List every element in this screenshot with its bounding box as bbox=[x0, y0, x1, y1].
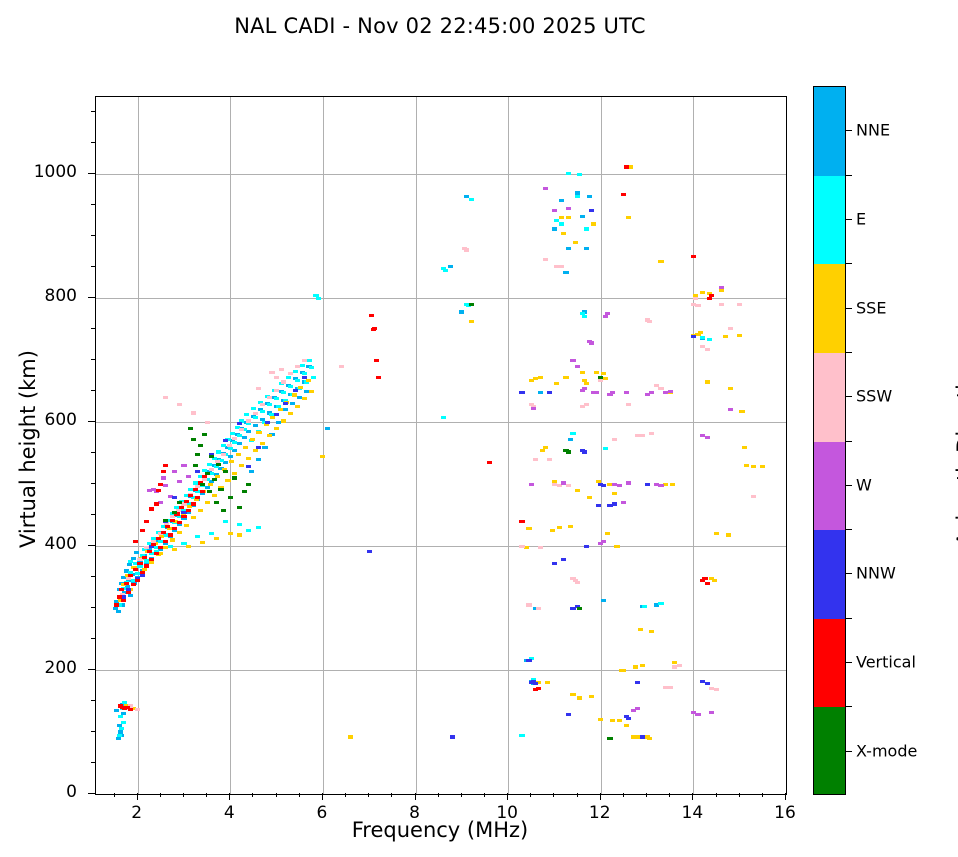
data-mark bbox=[128, 594, 133, 597]
data-mark bbox=[205, 486, 210, 489]
x-tick-label: 4 bbox=[199, 803, 259, 823]
data-mark bbox=[118, 715, 123, 718]
colorbar-band[interactable] bbox=[814, 442, 845, 531]
x-tick-minor bbox=[276, 793, 277, 797]
data-mark bbox=[526, 527, 531, 530]
x-tick-label: 2 bbox=[107, 803, 167, 823]
data-mark bbox=[714, 532, 719, 535]
y-tick-label: 600 bbox=[17, 410, 77, 430]
y-tick-major bbox=[88, 793, 95, 794]
data-mark bbox=[209, 532, 214, 535]
data-mark bbox=[309, 366, 314, 369]
data-mark bbox=[232, 449, 237, 452]
data-mark bbox=[253, 412, 258, 415]
data-mark bbox=[566, 713, 571, 716]
data-mark bbox=[232, 441, 237, 444]
data-mark bbox=[188, 427, 193, 430]
data-mark bbox=[626, 403, 631, 406]
data-mark bbox=[256, 431, 261, 434]
data-mark bbox=[207, 490, 212, 493]
data-mark bbox=[547, 391, 552, 394]
data-mark bbox=[283, 408, 288, 411]
data-mark bbox=[614, 545, 619, 548]
data-mark bbox=[601, 599, 606, 602]
y-tick-minor bbox=[91, 328, 95, 329]
data-mark bbox=[302, 397, 307, 400]
data-mark bbox=[566, 450, 571, 453]
data-mark bbox=[519, 545, 524, 548]
colorbar-band[interactable] bbox=[814, 353, 845, 442]
colorbar-band[interactable] bbox=[814, 264, 845, 353]
data-mark bbox=[566, 172, 571, 175]
data-mark bbox=[221, 444, 226, 447]
data-mark bbox=[281, 391, 286, 394]
data-mark bbox=[163, 540, 168, 543]
colorbar-band[interactable] bbox=[814, 87, 845, 176]
data-mark bbox=[700, 291, 705, 294]
data-mark bbox=[469, 320, 474, 323]
data-mark bbox=[172, 496, 177, 499]
data-mark bbox=[170, 538, 175, 541]
data-mark bbox=[218, 488, 223, 491]
colorbar-label: Vertical bbox=[856, 653, 916, 672]
gridline-horizontal bbox=[96, 422, 786, 423]
y-tick-minor bbox=[91, 483, 95, 484]
data-mark bbox=[723, 335, 728, 338]
data-mark bbox=[598, 376, 603, 379]
data-mark bbox=[236, 453, 241, 456]
colorbar-band[interactable] bbox=[814, 619, 845, 708]
data-mark bbox=[186, 509, 191, 512]
data-mark bbox=[126, 591, 131, 594]
x-tick-major bbox=[415, 793, 416, 800]
data-mark bbox=[698, 331, 703, 334]
data-mark bbox=[584, 403, 589, 406]
data-mark bbox=[249, 470, 254, 473]
data-mark bbox=[707, 297, 712, 300]
colorbar-title: Azimuth Direction bbox=[953, 102, 958, 802]
colorbar-tick bbox=[846, 396, 852, 397]
colorbar-label: SSE bbox=[856, 298, 886, 317]
data-mark bbox=[140, 574, 145, 577]
data-mark bbox=[573, 241, 578, 244]
data-mark bbox=[545, 681, 550, 684]
data-mark bbox=[121, 721, 126, 724]
data-mark bbox=[119, 588, 124, 591]
data-mark bbox=[232, 472, 237, 475]
data-mark bbox=[309, 390, 314, 393]
data-mark bbox=[163, 396, 168, 399]
y-tick-minor bbox=[91, 607, 95, 608]
colorbar-tick bbox=[846, 751, 852, 752]
colorbar-tick-boundary bbox=[846, 175, 852, 176]
data-mark bbox=[246, 419, 251, 422]
x-tick-minor bbox=[206, 793, 207, 797]
data-mark bbox=[459, 310, 464, 313]
data-mark bbox=[172, 511, 177, 514]
data-mark bbox=[202, 433, 207, 436]
x-tick-major bbox=[137, 793, 138, 800]
data-mark bbox=[165, 525, 170, 528]
data-mark bbox=[575, 365, 580, 368]
data-mark bbox=[526, 603, 531, 606]
data-mark bbox=[469, 198, 474, 201]
data-mark bbox=[246, 529, 251, 532]
data-mark bbox=[134, 551, 139, 554]
data-mark bbox=[221, 453, 226, 456]
data-mark bbox=[587, 496, 592, 499]
x-tick-minor bbox=[461, 793, 462, 797]
colorbar-tick bbox=[846, 485, 852, 486]
data-mark bbox=[209, 472, 214, 475]
data-mark bbox=[529, 483, 534, 486]
data-mark bbox=[228, 532, 233, 535]
y-tick-label: 800 bbox=[17, 286, 77, 306]
data-mark bbox=[737, 334, 742, 337]
data-mark bbox=[536, 687, 541, 690]
data-mark bbox=[117, 595, 122, 598]
y-tick-minor bbox=[91, 638, 95, 639]
x-tick-minor bbox=[623, 793, 624, 797]
data-mark bbox=[274, 397, 279, 400]
data-mark bbox=[719, 303, 724, 306]
data-mark bbox=[281, 419, 286, 422]
data-mark bbox=[642, 605, 647, 608]
x-tick-minor bbox=[345, 793, 346, 797]
data-mark bbox=[246, 457, 251, 460]
data-mark bbox=[626, 481, 631, 484]
y-tick-minor bbox=[91, 452, 95, 453]
data-mark bbox=[603, 377, 608, 380]
gridline-vertical bbox=[416, 97, 417, 794]
data-mark bbox=[712, 579, 717, 582]
data-mark bbox=[293, 389, 298, 392]
y-tick-label: 200 bbox=[17, 658, 77, 678]
x-tick-minor bbox=[299, 793, 300, 797]
data-mark bbox=[161, 470, 166, 473]
data-mark bbox=[621, 193, 626, 196]
data-mark bbox=[533, 458, 538, 461]
data-mark bbox=[274, 427, 279, 430]
data-mark bbox=[288, 372, 293, 375]
data-mark bbox=[149, 507, 154, 510]
data-mark bbox=[719, 286, 724, 289]
colorbar-tick-boundary bbox=[846, 263, 852, 264]
data-mark bbox=[214, 537, 219, 540]
data-mark bbox=[570, 693, 575, 696]
data-mark bbox=[557, 526, 562, 529]
data-mark bbox=[691, 335, 696, 338]
data-mark bbox=[256, 526, 261, 529]
colorbar-label: NNE bbox=[856, 121, 890, 140]
data-mark bbox=[563, 376, 568, 379]
data-mark bbox=[670, 483, 675, 486]
data-mark bbox=[580, 215, 585, 218]
data-mark bbox=[577, 173, 582, 176]
data-mark bbox=[369, 314, 374, 317]
data-mark bbox=[177, 531, 182, 534]
x-tick-label: 14 bbox=[662, 803, 722, 823]
data-mark bbox=[144, 564, 149, 567]
data-mark bbox=[568, 525, 573, 528]
data-mark bbox=[223, 520, 228, 523]
data-mark bbox=[538, 546, 543, 549]
data-mark bbox=[151, 543, 156, 546]
data-mark bbox=[181, 464, 186, 467]
data-mark bbox=[596, 504, 601, 507]
data-mark bbox=[533, 682, 538, 685]
data-mark bbox=[348, 735, 353, 738]
colorbar-band[interactable] bbox=[814, 707, 845, 795]
data-mark bbox=[298, 386, 303, 389]
x-tick-minor bbox=[739, 793, 740, 797]
data-mark bbox=[519, 734, 524, 737]
colorbar-label: NNW bbox=[856, 564, 896, 583]
colorbar-tick bbox=[846, 662, 852, 663]
data-mark bbox=[649, 391, 654, 394]
data-mark bbox=[601, 540, 606, 543]
data-mark bbox=[274, 389, 279, 392]
colorbar[interactable] bbox=[813, 86, 846, 795]
data-mark bbox=[450, 735, 455, 738]
data-mark bbox=[269, 371, 274, 374]
y-tick-minor bbox=[91, 142, 95, 143]
data-mark bbox=[547, 458, 552, 461]
data-mark bbox=[253, 416, 258, 419]
y-tick-major bbox=[88, 669, 95, 670]
y-tick-minor bbox=[91, 576, 95, 577]
data-mark bbox=[232, 437, 237, 440]
y-tick-label: 400 bbox=[17, 534, 77, 554]
data-mark bbox=[191, 502, 196, 505]
data-mark bbox=[709, 294, 714, 297]
data-mark bbox=[589, 209, 594, 212]
data-mark bbox=[137, 562, 142, 565]
data-mark bbox=[237, 442, 242, 445]
data-mark bbox=[552, 209, 557, 212]
data-mark bbox=[594, 371, 599, 374]
y-tick-major bbox=[88, 297, 95, 298]
data-mark bbox=[464, 248, 469, 251]
colorbar-tick bbox=[846, 308, 852, 309]
x-tick-major bbox=[785, 793, 786, 800]
data-mark bbox=[278, 408, 283, 411]
data-mark bbox=[161, 476, 166, 479]
data-mark bbox=[195, 496, 200, 499]
y-tick-minor bbox=[91, 204, 95, 205]
data-mark bbox=[705, 436, 710, 439]
x-tick-minor bbox=[183, 793, 184, 797]
x-tick-label: 10 bbox=[477, 803, 537, 823]
data-mark bbox=[612, 502, 617, 505]
data-mark bbox=[519, 391, 524, 394]
colorbar-label: SSW bbox=[856, 387, 892, 406]
data-mark bbox=[195, 535, 200, 538]
data-mark bbox=[744, 464, 749, 467]
data-mark bbox=[589, 341, 594, 344]
data-mark bbox=[584, 545, 589, 548]
data-mark bbox=[191, 516, 196, 519]
data-mark bbox=[695, 713, 700, 716]
y-tick-minor bbox=[91, 762, 95, 763]
y-tick-major bbox=[88, 545, 95, 546]
data-mark bbox=[172, 548, 177, 551]
data-mark bbox=[122, 701, 127, 704]
plot-area[interactable] bbox=[95, 96, 787, 795]
data-mark bbox=[242, 490, 247, 493]
data-mark bbox=[158, 552, 163, 555]
colorbar-band[interactable] bbox=[814, 530, 845, 619]
data-mark bbox=[260, 410, 265, 413]
x-tick-minor bbox=[484, 793, 485, 797]
data-mark bbox=[575, 195, 580, 198]
data-mark bbox=[154, 552, 159, 555]
colorbar-tick-boundary bbox=[846, 441, 852, 442]
data-mark bbox=[598, 718, 603, 721]
data-mark bbox=[295, 379, 300, 382]
data-mark bbox=[267, 434, 272, 437]
data-mark bbox=[193, 488, 198, 491]
data-mark bbox=[372, 327, 377, 330]
data-mark bbox=[524, 546, 529, 549]
data-mark bbox=[208, 483, 213, 486]
data-mark bbox=[605, 312, 610, 315]
data-mark bbox=[243, 446, 248, 449]
data-mark bbox=[580, 371, 585, 374]
x-tick-major bbox=[600, 793, 601, 800]
data-mark bbox=[617, 484, 622, 487]
data-mark bbox=[168, 545, 173, 548]
data-mark bbox=[184, 524, 189, 527]
data-mark bbox=[559, 216, 564, 219]
data-mark bbox=[209, 468, 214, 471]
data-mark bbox=[230, 432, 235, 435]
data-mark bbox=[170, 519, 175, 522]
data-mark bbox=[181, 515, 186, 518]
data-mark bbox=[448, 265, 453, 268]
data-mark bbox=[302, 372, 307, 375]
gridline-horizontal bbox=[96, 298, 786, 299]
y-tick-minor bbox=[91, 235, 95, 236]
data-mark bbox=[536, 607, 541, 610]
data-mark bbox=[267, 396, 272, 399]
data-mark bbox=[279, 368, 284, 371]
colorbar-label: W bbox=[856, 475, 872, 494]
data-mark bbox=[658, 602, 663, 605]
data-mark bbox=[262, 446, 267, 449]
data-mark bbox=[172, 470, 177, 473]
colorbar-tick-boundary bbox=[846, 352, 852, 353]
y-tick-major bbox=[88, 173, 95, 174]
data-mark bbox=[584, 247, 589, 250]
data-mark bbox=[253, 449, 258, 452]
data-mark bbox=[114, 603, 119, 606]
data-mark bbox=[116, 737, 121, 740]
x-tick-minor bbox=[160, 793, 161, 797]
colorbar-band[interactable] bbox=[814, 176, 845, 265]
data-mark bbox=[691, 255, 696, 258]
y-tick-minor bbox=[91, 111, 95, 112]
data-mark bbox=[376, 376, 381, 379]
data-mark bbox=[246, 465, 251, 468]
data-mark bbox=[216, 463, 221, 466]
data-mark bbox=[577, 607, 582, 610]
data-mark bbox=[237, 523, 242, 526]
data-mark bbox=[526, 659, 531, 662]
x-tick-minor bbox=[762, 793, 763, 797]
data-mark bbox=[200, 490, 205, 493]
data-mark bbox=[212, 494, 217, 497]
data-mark bbox=[198, 509, 203, 512]
data-mark bbox=[163, 546, 168, 549]
colorbar-tick-boundary bbox=[846, 529, 852, 530]
data-mark bbox=[628, 165, 633, 168]
x-tick-minor bbox=[577, 793, 578, 797]
data-mark bbox=[135, 708, 140, 711]
data-mark bbox=[603, 447, 608, 450]
data-mark bbox=[223, 470, 228, 473]
gridline-vertical bbox=[323, 97, 324, 794]
data-mark bbox=[256, 446, 261, 449]
data-mark bbox=[570, 432, 575, 435]
data-mark bbox=[577, 696, 582, 699]
data-mark bbox=[133, 568, 138, 571]
data-mark bbox=[603, 315, 608, 318]
data-mark bbox=[116, 610, 121, 613]
data-mark bbox=[244, 413, 249, 416]
data-mark bbox=[260, 442, 265, 445]
y-tick-label: 1000 bbox=[17, 162, 77, 182]
data-mark bbox=[617, 719, 622, 722]
data-mark bbox=[591, 222, 596, 225]
data-mark bbox=[293, 370, 298, 373]
data-mark bbox=[658, 260, 663, 263]
data-mark bbox=[658, 387, 663, 390]
data-mark bbox=[742, 446, 747, 449]
data-mark bbox=[246, 430, 251, 433]
data-mark bbox=[705, 348, 710, 351]
data-mark bbox=[624, 165, 629, 168]
data-mark bbox=[168, 533, 173, 536]
data-mark bbox=[543, 258, 548, 261]
x-tick-minor bbox=[252, 793, 253, 797]
data-mark bbox=[566, 247, 571, 250]
data-mark bbox=[267, 403, 272, 406]
data-mark bbox=[274, 376, 279, 379]
data-mark bbox=[114, 709, 119, 712]
data-mark bbox=[737, 303, 742, 306]
data-mark bbox=[566, 484, 571, 487]
data-mark bbox=[205, 501, 210, 504]
data-mark bbox=[320, 455, 325, 458]
data-mark bbox=[693, 297, 698, 300]
data-mark bbox=[117, 734, 122, 737]
data-mark bbox=[237, 434, 242, 437]
data-mark bbox=[214, 501, 219, 504]
data-mark bbox=[649, 630, 654, 633]
data-mark bbox=[566, 216, 571, 219]
x-tick-major bbox=[507, 793, 508, 800]
data-mark bbox=[286, 376, 291, 379]
data-mark bbox=[589, 695, 594, 698]
data-mark bbox=[186, 545, 191, 548]
data-mark bbox=[367, 550, 372, 553]
colorbar-tick-boundary bbox=[846, 706, 852, 707]
x-tick-minor bbox=[368, 793, 369, 797]
data-mark bbox=[626, 717, 631, 720]
data-mark bbox=[200, 541, 205, 544]
data-mark bbox=[158, 501, 163, 504]
